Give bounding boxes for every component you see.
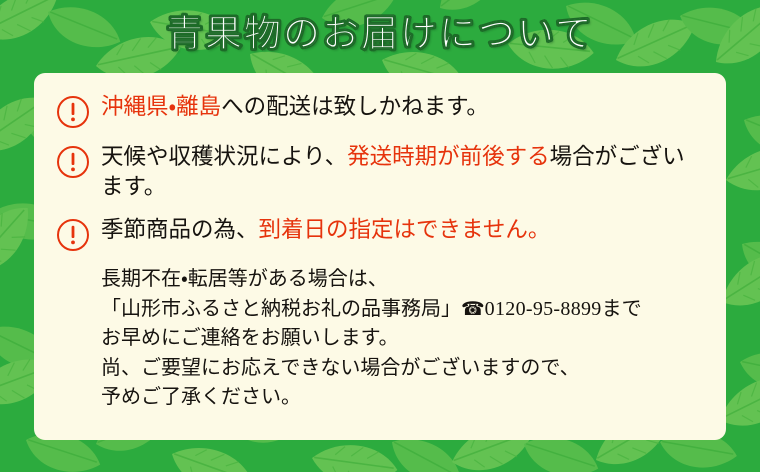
notice-list: 沖縄県・離島への配送は致しかねます。 天候や収穫状況により、発送時期が前後する場…: [56, 92, 704, 252]
exclamation-circle-icon: [56, 218, 90, 252]
note-line-1: 長期不在・転居等がある場合は、: [101, 265, 704, 295]
contact-note: 長期不在・転居等がある場合は、 「山形市ふるさと納税お礼の品事務局」☎0120-…: [101, 265, 704, 413]
notice-text-plain: への配送は致しかねます。: [221, 94, 489, 119]
notice-item: 天候や収穫状況により、発送時期が前後する場合がございます。: [56, 142, 704, 202]
telephone-icon: ☎: [461, 298, 485, 320]
notice-text-plain: 天候や収穫状況により、: [101, 144, 347, 169]
delivery-notice-banner: 青果物のお届けについて 沖縄県・離島への配送は致しかねます。: [0, 0, 760, 472]
banner-title: 青果物のお届けについて: [0, 8, 760, 60]
exclamation-circle-icon: [56, 95, 90, 129]
note-line-2-suffix: まで: [602, 298, 642, 320]
notice-text-highlight: 到着日の指定はできません。: [259, 217, 551, 242]
telephone-number: 0120-95-8899: [485, 298, 602, 320]
note-line-4: 尚、ご要望にお応えできない場合がございますので、: [101, 354, 704, 384]
notice-item: 沖縄県・離島への配送は致しかねます。: [56, 92, 704, 129]
note-line-3: お早めにご連絡をお願いします。: [101, 324, 704, 354]
office-name: 「山形市ふるさと納税お礼の品事務局」: [101, 298, 461, 320]
notice-text-plain: 季節商品の為、: [101, 217, 259, 242]
notice-text: 季節商品の為、到着日の指定はできません。: [101, 215, 550, 245]
notice-text-highlight: 発送時期が前後する: [347, 144, 550, 169]
notice-panel: 沖縄県・離島への配送は致しかねます。 天候や収穫状況により、発送時期が前後する場…: [34, 73, 726, 440]
exclamation-circle-icon: [56, 145, 90, 179]
note-line-5: 予めご了承ください。: [101, 383, 704, 413]
note-line-2: 「山形市ふるさと納税お礼の品事務局」☎0120-95-8899まで: [101, 295, 704, 325]
notice-text-highlight: 沖縄県・離島: [101, 94, 221, 119]
notice-text: 沖縄県・離島への配送は致しかねます。: [101, 92, 489, 122]
notice-item: 季節商品の為、到着日の指定はできません。: [56, 215, 704, 252]
notice-text: 天候や収穫状況により、発送時期が前後する場合がございます。: [101, 142, 704, 202]
